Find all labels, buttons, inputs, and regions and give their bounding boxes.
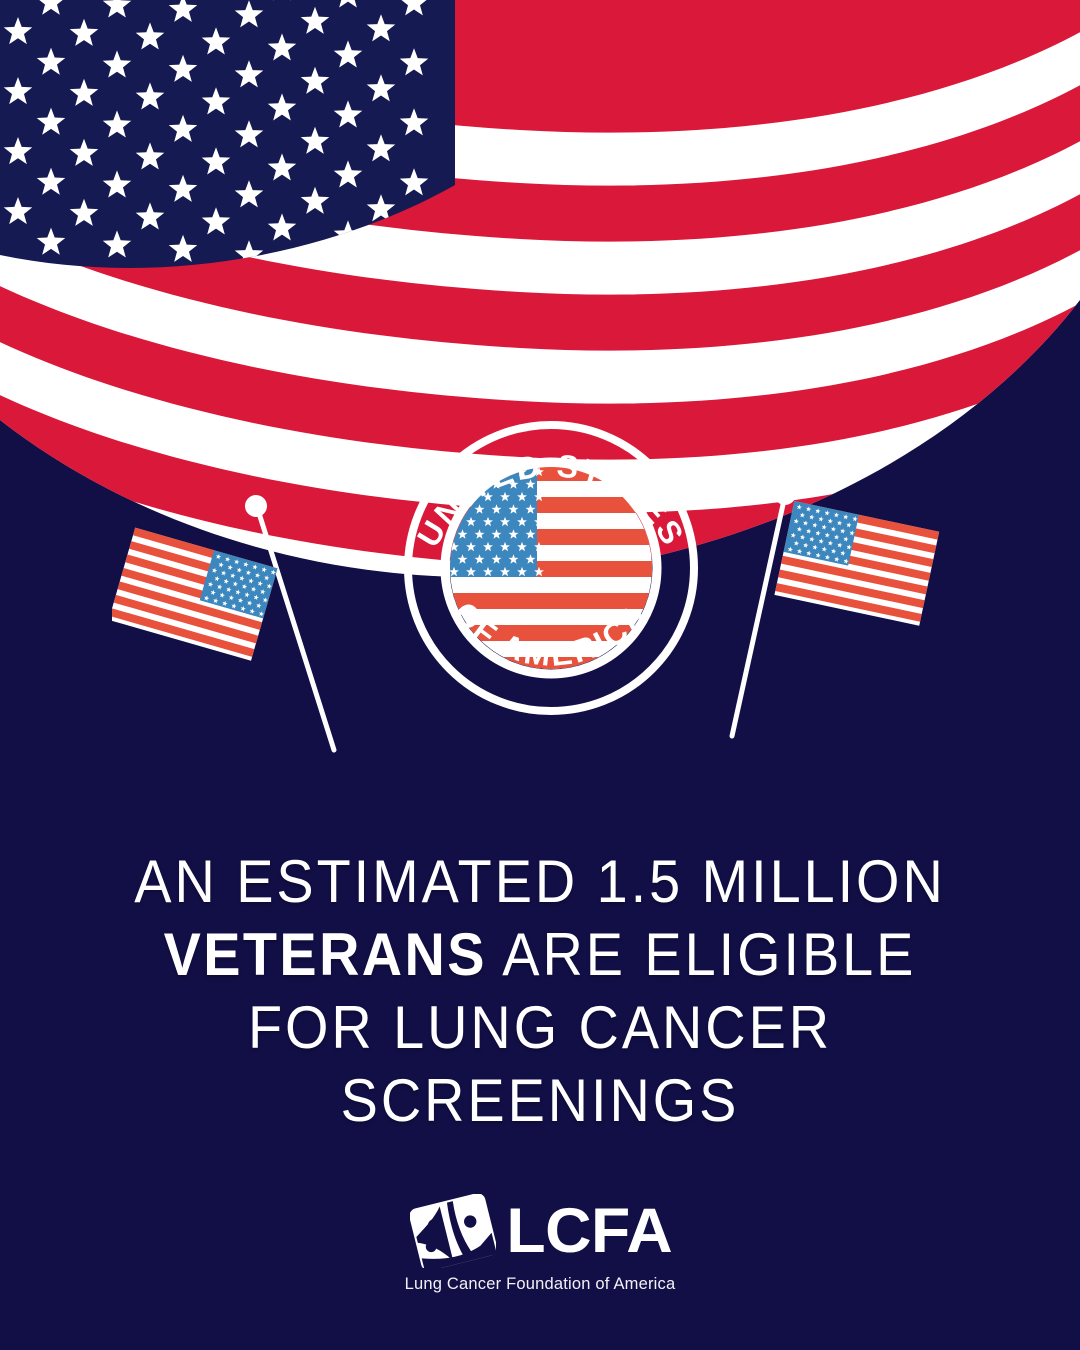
lcfa-wordmark: LCFA [506, 1200, 672, 1263]
headline-line-2-rest: ARE ELIGIBLE [487, 921, 916, 988]
lcfa-logo-row: LCFA [410, 1192, 670, 1270]
headline-emphasis-veterans: VETERANS [164, 921, 487, 988]
united-states-seal: UNITED STATES OF AMERICA [398, 402, 704, 724]
flag-pole-right [732, 500, 784, 736]
lcfa-logo[interactable]: LCFA Lung Cancer Foundation of America [0, 1192, 1080, 1294]
american-hand-flag-right [718, 478, 958, 746]
flag-cloth-right [774, 501, 939, 626]
headline-line-3: FOR LUNG CANCER [38, 991, 1042, 1064]
headline-block: AN ESTIMATED 1.5 MILLION VETERANS ARE EL… [0, 845, 1080, 1137]
headline-line-1: AN ESTIMATED 1.5 MILLION [38, 845, 1042, 918]
flag-finial-right [774, 483, 796, 505]
poster-canvas: UNITED STATES OF AMERICA [0, 0, 1080, 1350]
lcfa-people-mark [410, 1194, 496, 1268]
flag-cloth-left [112, 528, 277, 661]
american-hand-flag-left [112, 488, 352, 756]
headline-line-4: SCREENINGS [38, 1064, 1042, 1137]
lcfa-tagline: Lung Cancer Foundation of America [0, 1275, 1080, 1294]
headline-line-2: VETERANS ARE ELIGIBLE [38, 918, 1042, 991]
flag-finial-left [245, 495, 267, 517]
flag-pole-left [258, 510, 334, 750]
